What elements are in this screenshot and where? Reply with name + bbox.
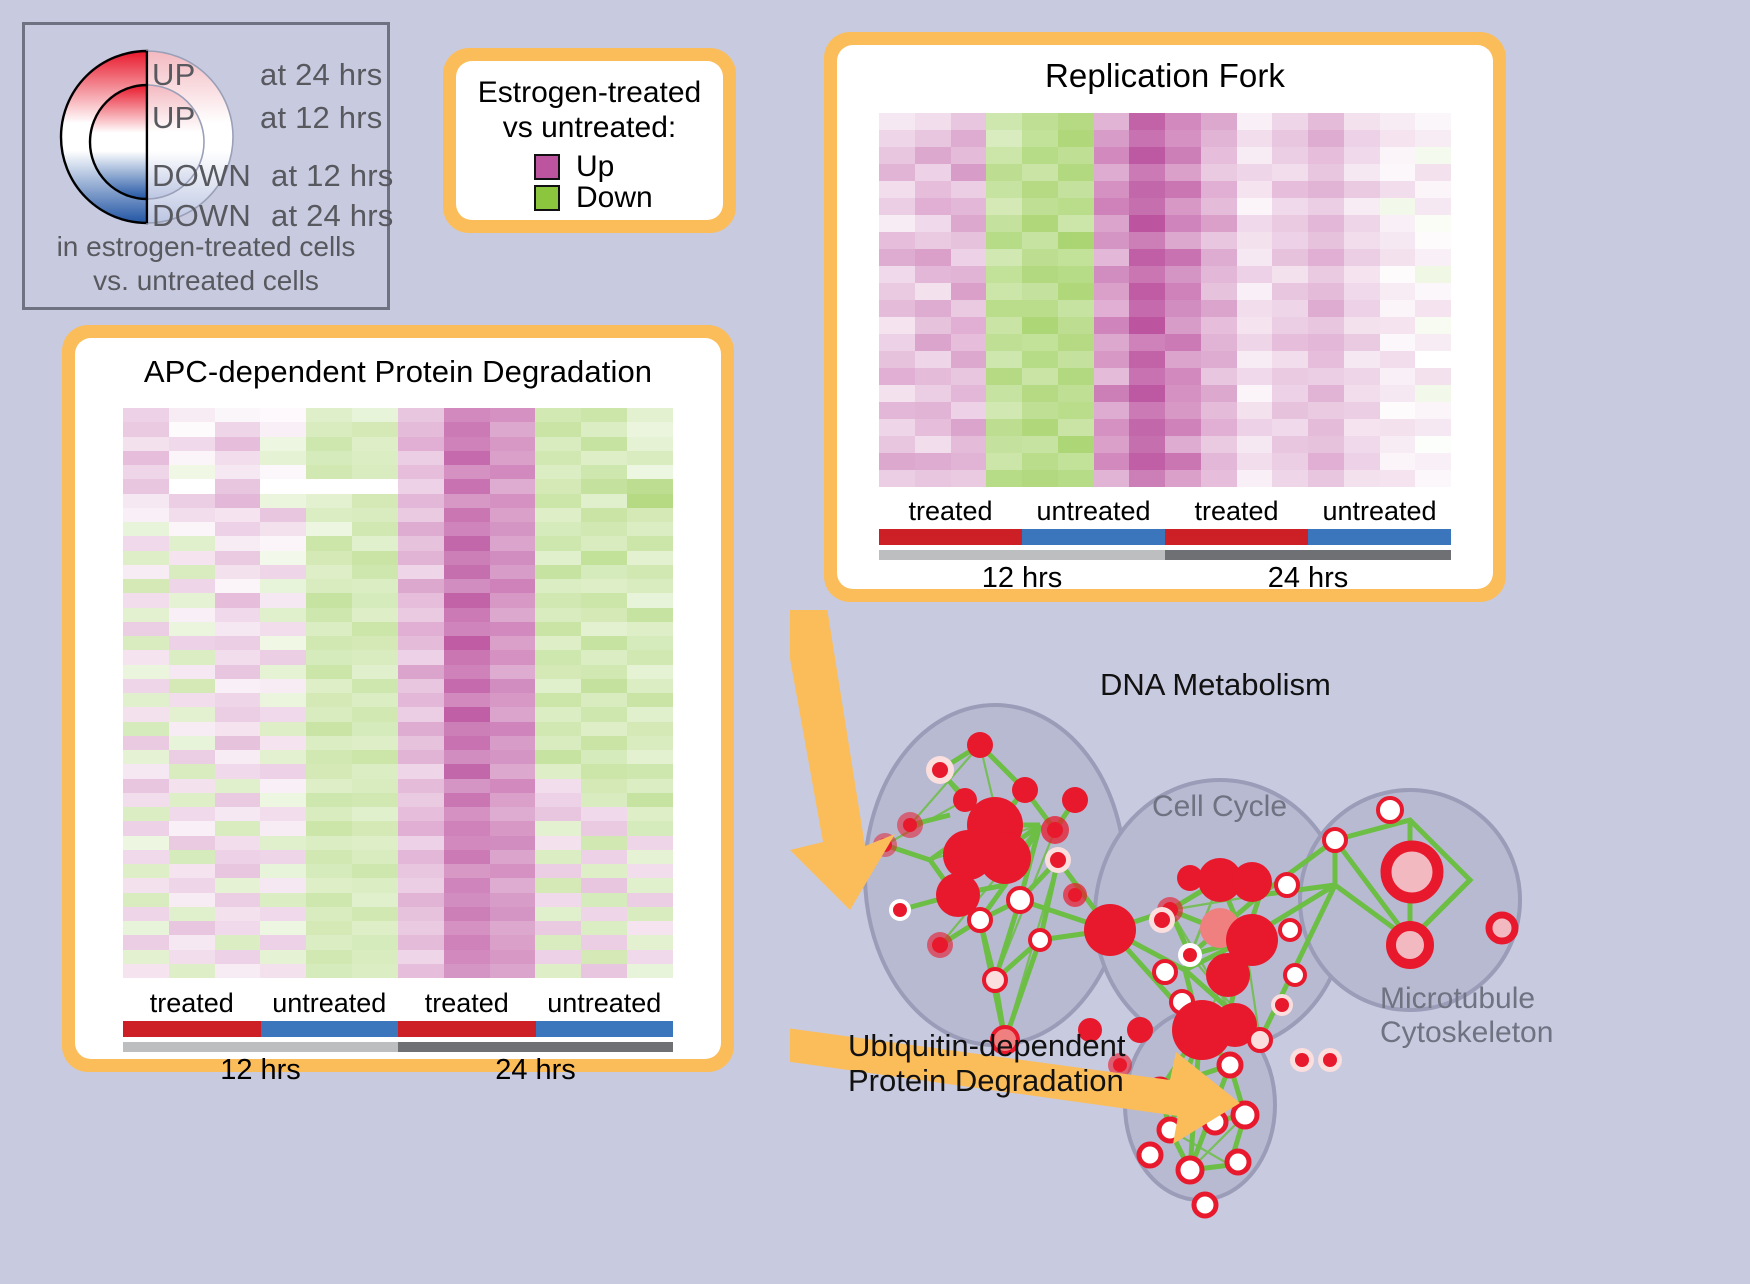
heat-cell: [352, 821, 398, 835]
down-swatch-icon: [534, 185, 560, 211]
heat-cell: [169, 465, 215, 479]
heat-cell: [627, 665, 673, 679]
heat-cell: [581, 479, 627, 493]
heat-cell: [398, 693, 444, 707]
heat-cell: [1308, 453, 1344, 470]
heat-cell: [490, 679, 536, 693]
heat-cell: [490, 522, 536, 536]
heat-cell: [352, 551, 398, 565]
heat-cell: [1344, 147, 1380, 164]
heat-cell: [1022, 232, 1058, 249]
heat-cell: [1344, 181, 1380, 198]
heat-cell: [398, 479, 444, 493]
heat-cell: [879, 436, 915, 453]
heat-cell: [986, 351, 1022, 368]
heat-cell: [306, 964, 352, 978]
heat-cell: [260, 935, 306, 949]
heat-cell: [215, 608, 261, 622]
heat-cell: [535, 893, 581, 907]
heat-cell: [1415, 453, 1451, 470]
heat-cell: [1308, 266, 1344, 283]
heat-cell: [1022, 470, 1058, 487]
heat-cell: [535, 636, 581, 650]
heat-cell: [169, 650, 215, 664]
heat-cell: [260, 964, 306, 978]
heat-cell: [1308, 470, 1344, 487]
heat-cell: [581, 679, 627, 693]
heat-cell: [1237, 300, 1273, 317]
heat-cell: [260, 608, 306, 622]
heat-cell: [915, 402, 951, 419]
heat-cell: [627, 764, 673, 778]
heat-cell: [398, 736, 444, 750]
heat-cell: [1380, 249, 1416, 266]
cluster-label-cell-cycle: Cell Cycle: [1152, 790, 1287, 824]
heat-cell: [398, 536, 444, 550]
heat-cell: [1165, 164, 1201, 181]
heat-cell: [123, 878, 169, 892]
heat-cell: [260, 807, 306, 821]
heat-cell: [398, 665, 444, 679]
heat-cell: [123, 636, 169, 650]
heat-cell: [1308, 351, 1344, 368]
heat-cell: [1129, 402, 1165, 419]
heat-cell: [915, 130, 951, 147]
heat-cell: [1380, 419, 1416, 436]
heat-cell: [123, 494, 169, 508]
heat-cell: [1380, 266, 1416, 283]
heat-cell: [169, 736, 215, 750]
heat-cell: [306, 764, 352, 778]
heat-cell: [1272, 470, 1308, 487]
heat-cell: [444, 821, 490, 835]
heat-cell: [169, 579, 215, 593]
heat-cell: [1272, 317, 1308, 334]
heat-cell: [535, 451, 581, 465]
heat-cell: [627, 722, 673, 736]
heat-cell: [1380, 164, 1416, 181]
heat-cell: [490, 864, 536, 878]
heat-cell: [215, 707, 261, 721]
heat-cell: [490, 964, 536, 978]
heat-cell: [306, 622, 352, 636]
heat-cell: [1201, 317, 1237, 334]
heat-cell: [581, 836, 627, 850]
heat-cell: [986, 249, 1022, 266]
heat-cell: [215, 593, 261, 607]
heat-cell: [398, 935, 444, 949]
heat-cell: [535, 935, 581, 949]
heat-cell: [879, 113, 915, 130]
heat-cell: [1058, 130, 1094, 147]
heat-cell: [627, 679, 673, 693]
heat-cell: [951, 232, 987, 249]
heat-cell: [123, 850, 169, 864]
heat-cell: [915, 300, 951, 317]
heat-cell: [1022, 283, 1058, 300]
heat-cell: [444, 950, 490, 964]
heat-cell: [581, 750, 627, 764]
heat-cell: [398, 964, 444, 978]
heat-cell: [215, 964, 261, 978]
heat-cell: [1058, 317, 1094, 334]
heat-cell: [352, 451, 398, 465]
heat-cell: [1237, 334, 1273, 351]
heat-cell: [1201, 181, 1237, 198]
heat-cell: [1237, 368, 1273, 385]
rep-timebar-12: [879, 550, 1165, 560]
heat-cell: [169, 551, 215, 565]
heat-cell: [1165, 249, 1201, 266]
heat-cell: [123, 679, 169, 693]
heat-cell: [306, 451, 352, 465]
heat-cell: [1380, 147, 1416, 164]
heat-cell: [260, 707, 306, 721]
heat-cell: [581, 650, 627, 664]
heat-cell: [627, 921, 673, 935]
heat-cell: [444, 636, 490, 650]
heat-cell: [306, 935, 352, 949]
heat-cell: [627, 522, 673, 536]
heat-cell: [490, 437, 536, 451]
heat-cell: [535, 565, 581, 579]
heat-cell: [123, 722, 169, 736]
heat-cell: [123, 465, 169, 479]
heat-cell: [444, 793, 490, 807]
heat-cell: [306, 593, 352, 607]
heat-cell: [1344, 266, 1380, 283]
heat-cell: [1308, 368, 1344, 385]
heat-cell: [915, 113, 951, 130]
heat-cell: [1129, 317, 1165, 334]
heat-cell: [581, 422, 627, 436]
heat-cell: [915, 317, 951, 334]
heat-cell: [1201, 334, 1237, 351]
apc-bar-untreated-12: [261, 1021, 399, 1037]
panel-title-replication-fork: Replication Fork: [837, 45, 1493, 95]
heat-cell: [1022, 300, 1058, 317]
heat-cell: [444, 764, 490, 778]
heat-cell: [123, 779, 169, 793]
heat-cell: [260, 522, 306, 536]
heat-cell: [1344, 283, 1380, 300]
heat-cell: [260, 565, 306, 579]
heat-cell: [123, 408, 169, 422]
heat-cell: [1344, 130, 1380, 147]
heat-cell: [986, 164, 1022, 181]
heat-cell: [444, 836, 490, 850]
heat-cell: [581, 693, 627, 707]
cluster-label-protein-degradation: Protein Degradation: [848, 1063, 1126, 1098]
apc-time-bars: [123, 1042, 673, 1052]
heat-cell: [581, 579, 627, 593]
heat-cell: [123, 935, 169, 949]
heat-cell: [306, 779, 352, 793]
heat-cell: [398, 636, 444, 650]
heat-cell: [1415, 198, 1451, 215]
heat-cell: [444, 722, 490, 736]
heat-cell: [169, 665, 215, 679]
heat-cell: [915, 334, 951, 351]
heat-cell: [1201, 351, 1237, 368]
heat-cell: [260, 593, 306, 607]
heat-cell: [1129, 419, 1165, 436]
heat-cell: [1129, 147, 1165, 164]
heat-cell: [1344, 470, 1380, 487]
heat-cell: [581, 964, 627, 978]
heat-cell: [169, 878, 215, 892]
legend-key-box: UP at 24 hrs UP at 12 hrs DOWN at 12 hrs…: [22, 22, 390, 310]
heat-cell: [986, 334, 1022, 351]
heat-cell: [352, 565, 398, 579]
heat-cell: [879, 164, 915, 181]
heat-cell: [627, 707, 673, 721]
legend-item-down: Down: [534, 183, 723, 213]
heat-cell: [352, 864, 398, 878]
apc-bar-treated-24: [398, 1021, 536, 1037]
heat-cell: [352, 536, 398, 550]
heat-cell: [581, 736, 627, 750]
heat-cell: [444, 622, 490, 636]
key-label-up-12: UP: [152, 100, 195, 136]
heat-cell: [260, 679, 306, 693]
heat-cell: [1237, 113, 1273, 130]
heat-cell: [444, 707, 490, 721]
heat-cell: [1272, 368, 1308, 385]
heat-cell: [1165, 266, 1201, 283]
heat-cell: [398, 437, 444, 451]
heat-cell: [535, 964, 581, 978]
heat-cell: [444, 650, 490, 664]
heat-cell: [1129, 453, 1165, 470]
heat-cell: [352, 608, 398, 622]
heat-cell: [444, 964, 490, 978]
heat-cell: [306, 821, 352, 835]
apc-group-label-2: treated: [398, 988, 536, 1019]
heat-cell: [352, 522, 398, 536]
heat-cell: [306, 479, 352, 493]
heat-cell: [1415, 317, 1451, 334]
heat-cell: [306, 864, 352, 878]
heat-cell: [581, 522, 627, 536]
cluster-label-cytoskeleton: Cytoskeleton: [1380, 1016, 1553, 1050]
heat-cell: [490, 565, 536, 579]
heat-cell: [535, 693, 581, 707]
heat-cell: [915, 436, 951, 453]
rep-bar-treated-12: [879, 529, 1022, 545]
heat-cell: [1129, 164, 1165, 181]
heat-cell: [1165, 453, 1201, 470]
heat-cell: [1272, 249, 1308, 266]
heat-cell: [581, 408, 627, 422]
heat-cell: [306, 565, 352, 579]
heat-cell: [352, 707, 398, 721]
heat-cell: [260, 836, 306, 850]
heat-cell: [951, 249, 987, 266]
rep-group-label-0: treated: [879, 496, 1022, 527]
heat-cell: [123, 579, 169, 593]
heat-cell: [1129, 232, 1165, 249]
heat-cell: [915, 198, 951, 215]
heat-cell: [1415, 419, 1451, 436]
heat-cell: [986, 419, 1022, 436]
heat-cell: [1344, 249, 1380, 266]
heat-cell: [1272, 283, 1308, 300]
heat-cell: [169, 964, 215, 978]
heat-cell: [215, 864, 261, 878]
heat-cell: [1094, 232, 1130, 249]
heat-cell: [1165, 402, 1201, 419]
heat-cell: [581, 437, 627, 451]
heat-cell: [1165, 317, 1201, 334]
heat-cell: [1308, 181, 1344, 198]
heat-cell: [1272, 351, 1308, 368]
heat-cell: [398, 878, 444, 892]
heat-cell: [123, 907, 169, 921]
heat-cell: [490, 807, 536, 821]
heat-cell: [260, 622, 306, 636]
heat-cell: [581, 494, 627, 508]
key-time-up-24: at 24 hrs: [260, 57, 382, 93]
heat-cell: [1308, 419, 1344, 436]
heat-cell: [1058, 334, 1094, 351]
heat-cell: [215, 921, 261, 935]
heat-cell: [123, 508, 169, 522]
cluster-label-ubiquitin-protein-degradation: Ubiquitin-dependent Protein Degradation: [848, 1028, 1126, 1099]
apc-group-label-3: untreated: [536, 988, 674, 1019]
heat-cell: [1415, 215, 1451, 232]
heat-cell: [1094, 453, 1130, 470]
heat-cell: [1058, 351, 1094, 368]
heat-cell: [352, 964, 398, 978]
heat-cell: [260, 508, 306, 522]
heat-cell: [951, 351, 987, 368]
heat-cell: [1129, 181, 1165, 198]
heat-cell: [1129, 249, 1165, 266]
heat-cell: [1201, 300, 1237, 317]
heat-cell: [627, 608, 673, 622]
heat-cell: [1380, 368, 1416, 385]
heat-cell: [1201, 453, 1237, 470]
heat-cell: [169, 422, 215, 436]
heat-cell: [398, 650, 444, 664]
heat-cell: [1344, 351, 1380, 368]
heat-cell: [398, 750, 444, 764]
heat-cell: [879, 453, 915, 470]
heat-cell: [1022, 317, 1058, 334]
heat-cell: [123, 736, 169, 750]
heat-cell: [1094, 198, 1130, 215]
heat-cell: [215, 736, 261, 750]
heat-cell: [490, 935, 536, 949]
heat-cell: [1344, 368, 1380, 385]
heat-cell: [306, 850, 352, 864]
heat-cell: [1201, 164, 1237, 181]
heat-cell: [490, 893, 536, 907]
heat-cell: [1094, 317, 1130, 334]
heat-cell: [915, 283, 951, 300]
heat-cell: [444, 779, 490, 793]
rep-bar-untreated-12: [1022, 529, 1165, 545]
heat-cell: [490, 793, 536, 807]
heat-cell: [627, 579, 673, 593]
heat-cell: [1380, 113, 1416, 130]
heat-cell: [1094, 147, 1130, 164]
heat-cell: [627, 465, 673, 479]
heat-cell: [490, 408, 536, 422]
heat-cell: [352, 408, 398, 422]
heat-cell: [915, 351, 951, 368]
heatmap-replication-fork: [879, 113, 1451, 487]
heat-cell: [123, 864, 169, 878]
heat-cell: [490, 722, 536, 736]
heat-cell: [1022, 368, 1058, 385]
heat-cell: [1308, 164, 1344, 181]
heat-cell: [490, 736, 536, 750]
heat-cell: [123, 693, 169, 707]
heat-cell: [1165, 334, 1201, 351]
heat-cell: [986, 385, 1022, 402]
heat-cell: [215, 679, 261, 693]
heat-cell: [215, 494, 261, 508]
heat-cell: [1094, 113, 1130, 130]
heat-cell: [1308, 215, 1344, 232]
heat-cell: [986, 147, 1022, 164]
heat-cell: [915, 368, 951, 385]
heat-cell: [1058, 419, 1094, 436]
heat-cell: [1237, 317, 1273, 334]
heat-cell: [260, 950, 306, 964]
heat-cell: [1415, 181, 1451, 198]
heat-cell: [444, 736, 490, 750]
heat-cell: [581, 921, 627, 935]
heat-cell: [398, 907, 444, 921]
heat-cell: [627, 807, 673, 821]
heat-cell: [398, 465, 444, 479]
heat-cell: [1344, 436, 1380, 453]
heat-cell: [1201, 249, 1237, 266]
heat-cell: [1129, 283, 1165, 300]
heat-cell: [306, 722, 352, 736]
heat-cell: [169, 950, 215, 964]
heat-cell: [1380, 385, 1416, 402]
heat-cell: [1344, 164, 1380, 181]
heat-cell: [169, 693, 215, 707]
heat-cell: [215, 465, 261, 479]
heat-cell: [1380, 317, 1416, 334]
heat-cell: [260, 465, 306, 479]
heat-cell: [1415, 334, 1451, 351]
heat-cell: [951, 113, 987, 130]
heat-cell: [915, 453, 951, 470]
heat-cell: [444, 579, 490, 593]
heat-cell: [1094, 283, 1130, 300]
heat-cell: [1058, 215, 1094, 232]
heat-cell: [352, 836, 398, 850]
panel-title-apc: APC-dependent Protein Degradation: [75, 338, 721, 390]
heat-cell: [627, 750, 673, 764]
heat-cell: [1380, 130, 1416, 147]
heat-cell: [581, 508, 627, 522]
key-label-up-24: UP: [152, 57, 195, 93]
heat-cell: [306, 750, 352, 764]
heat-cell: [215, 878, 261, 892]
heat-cell: [1237, 385, 1273, 402]
heat-cell: [1308, 334, 1344, 351]
heat-cell: [444, 679, 490, 693]
heat-cell: [986, 453, 1022, 470]
heat-cell: [581, 807, 627, 821]
